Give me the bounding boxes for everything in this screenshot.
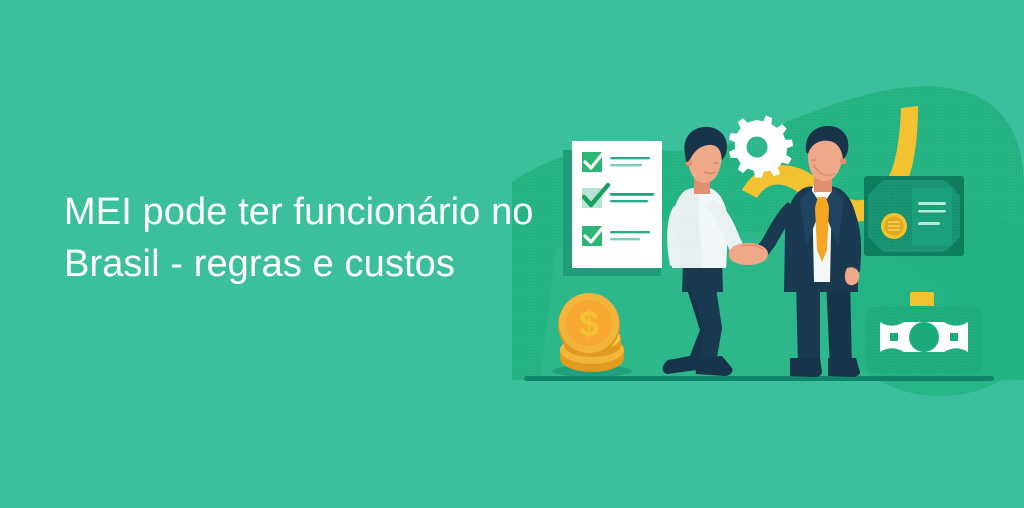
- banknote-document: [864, 176, 964, 256]
- money-case: [866, 292, 982, 374]
- hero-banner: $: [0, 0, 1024, 508]
- handshake: [729, 243, 768, 265]
- checklist-document: [563, 141, 662, 276]
- page-title: MEI pode ter funcionário no Brasil - reg…: [64, 186, 534, 290]
- coin-stack: $: [552, 293, 632, 377]
- dollar-sign: $: [579, 303, 599, 344]
